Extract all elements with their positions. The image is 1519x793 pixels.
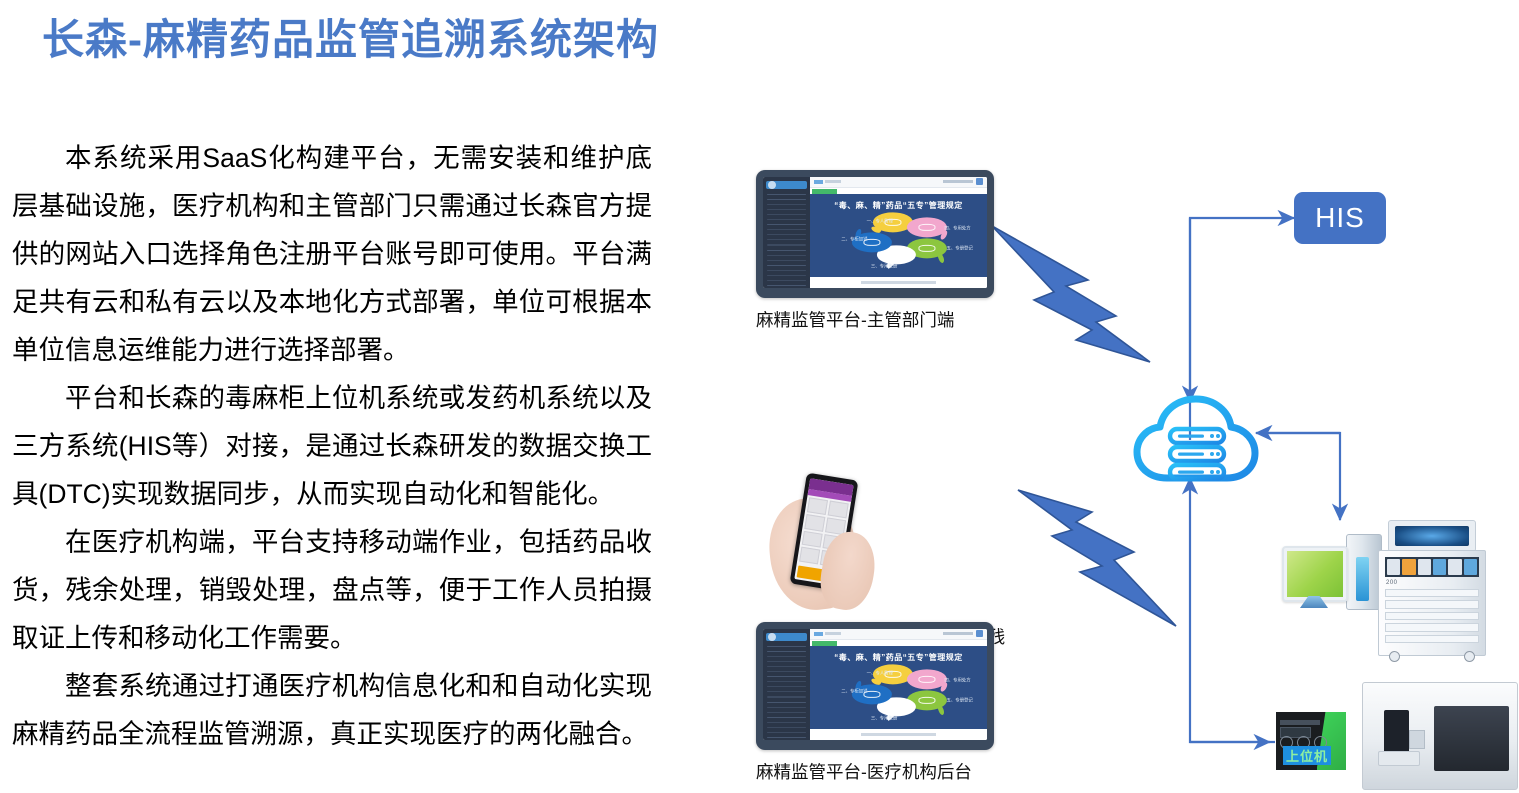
cloud-server-icon [1134, 396, 1259, 488]
description-paragraph-1: 本系统采用SaaS化构建平台，无需安装和维护底层基础设施，医疗机构和主管部门只需… [12, 134, 652, 374]
machine-window [1434, 706, 1509, 771]
dashboard-sidebar[interactable] [763, 177, 810, 288]
description-block: 本系统采用SaaS化构建平台，无需安装和维护底层基础设施，医疗机构和主管部门只需… [12, 134, 652, 758]
dashboard-main: “毒、麻、精”药品“五专”管理规定 一、专人管理 二、专柜加锁 三、专用账册 [810, 629, 987, 740]
sidebar-item[interactable] [767, 214, 806, 215]
dispensing-cabinet[interactable]: 200 [1378, 520, 1484, 660]
handheld-device[interactable] [762, 470, 892, 620]
sidebar-item[interactable] [767, 661, 806, 662]
sidebar-item[interactable] [767, 686, 806, 687]
sidebar-group[interactable] [767, 717, 806, 718]
sidebar-item[interactable] [767, 229, 806, 230]
description-paragraph-3: 在医疗机构端，平台支持移动端作业，包括药品收货，残余处理，销毁处理，盘点等，便于… [12, 518, 652, 662]
page-title: 长森-麻精药品监管追溯系统架构 [42, 6, 659, 67]
sidebar-item[interactable] [767, 681, 806, 682]
machine-panel [1384, 710, 1409, 755]
sidebar-item[interactable] [767, 219, 806, 220]
dashboard-logo [766, 633, 807, 641]
sidebar-item[interactable] [767, 671, 806, 672]
cabinet-display [1388, 520, 1476, 552]
pinwheel-label-2: 二、专柜加锁 [841, 237, 867, 243]
workstation-pc[interactable] [1282, 530, 1382, 610]
laptop-hospital-caption: 麻精监管平台-医疗机构后台 [756, 760, 1036, 784]
upper-machine-to-cloud-connector [1190, 478, 1275, 742]
sidebar-group[interactable] [767, 676, 806, 677]
sidebar-item[interactable] [767, 204, 806, 205]
upper-machine-label: 上位机 [1283, 746, 1331, 765]
screen-titlebar [1280, 720, 1321, 725]
pinwheel-label-3: 三、专用账册 [871, 715, 897, 721]
cabinet-wheel [1389, 651, 1400, 662]
sidebar-group[interactable] [767, 265, 806, 266]
sidebar-group[interactable] [767, 199, 806, 200]
pc-tower [1346, 534, 1382, 610]
laptop-bezel: “毒、麻、精”药品“五专”管理规定 一、专人管理 二、专柜加锁 三、专用账册 [756, 622, 994, 750]
sidebar-item[interactable] [767, 722, 806, 723]
description-paragraph-4: 整套系统通过打通医疗机构信息化和和自动化实现麻精药品全流程监管溯源，真正实现医疗… [12, 662, 652, 758]
admin-lightning-bolt [988, 218, 1158, 368]
dashboard-main: “毒、麻、精”药品“五专”管理规定 一、专人管理 二、专柜加锁 三、专用账册 [810, 177, 987, 288]
sidebar-group[interactable] [767, 285, 806, 286]
pinwheel-segment-4 [907, 669, 947, 689]
machine-mini-display [1409, 730, 1425, 749]
dashboard-footer [810, 277, 987, 288]
cloud-to-dispenser-connector [1260, 433, 1340, 520]
sidebar-item[interactable] [767, 244, 806, 245]
architecture-diagram: HIS [690, 120, 1519, 793]
laptop-admin-caption: 麻精监管平台-主管部门端 [756, 308, 1016, 332]
sidebar-group[interactable] [767, 194, 806, 195]
pinwheel-label-4: 四、专用处方 [944, 677, 970, 683]
dashboard-sidebar[interactable] [763, 629, 810, 740]
sidebar-group[interactable] [767, 250, 806, 251]
sidebar-item[interactable] [767, 255, 806, 256]
cabinet-body: 200 [1378, 550, 1486, 656]
cabinet-model-label: 200 [1386, 580, 1398, 586]
pinwheel-segment-4 [907, 217, 947, 237]
pinwheel-label-2: 二、专柜加锁 [841, 689, 867, 695]
pinwheel-label-5: 五、专册登记 [946, 698, 972, 704]
sidebar-group[interactable] [767, 737, 806, 738]
laptop-bezel: “毒、麻、精”药品“五专”管理规定 一、专人管理 二、专柜加锁 三、专用账册 [756, 170, 994, 298]
dashboard-footer [810, 729, 987, 740]
dashboard-topbar [810, 629, 987, 640]
sidebar-item[interactable] [767, 712, 806, 713]
sidebar-item[interactable] [767, 234, 806, 235]
sidebar-item[interactable] [767, 691, 806, 692]
sidebar-item[interactable] [767, 280, 806, 281]
sidebar-item[interactable] [767, 270, 806, 271]
description-paragraph-2: 平台和长森的毒麻柜上位机系统或发药机系统以及三方系统(HIS等）对接，是通过长森… [12, 374, 652, 518]
machine-keyboard-tray [1378, 751, 1421, 766]
slide-root: 长森-麻精药品监管追溯系统架构 本系统采用SaaS化构建平台，无需安装和维护底层… [0, 0, 1519, 793]
cabinet-wheel [1464, 651, 1475, 662]
his-node[interactable]: HIS [1294, 192, 1386, 244]
sidebar-item[interactable] [767, 209, 806, 210]
pinwheel-label-1: 一、专人管理 [867, 671, 893, 677]
laptop-screen: “毒、麻、精”药品“五专”管理规定 一、专人管理 二、专柜加锁 三、专用账册 [763, 629, 987, 740]
sidebar-item[interactable] [767, 707, 806, 708]
sidebar-item[interactable] [767, 666, 806, 667]
sidebar-item[interactable] [767, 260, 806, 261]
upper-machine-screen[interactable]: 上位机 [1276, 712, 1346, 770]
sidebar-item[interactable] [767, 239, 806, 240]
laptop-screen: “毒、麻、精”药品“五专”管理规定 一、专人管理 二、专柜加锁 三、专用账册 [763, 177, 987, 288]
five-special-pinwheel: 一、专人管理 二、专柜加锁 三、专用账册 四、专用处方 五、专册登记 [845, 209, 951, 270]
pinwheel-label-3: 三、专用账册 [871, 263, 897, 269]
laptop-admin[interactable]: “毒、麻、精”药品“五专”管理规定 一、专人管理 二、专柜加锁 三、专用账册 [756, 170, 994, 298]
user-avatar[interactable] [976, 178, 983, 185]
pc-monitor [1282, 546, 1348, 602]
dashboard-content: “毒、麻、精”药品“五专”管理规定 一、专人管理 二、专柜加锁 三、专用账册 [810, 646, 987, 729]
sidebar-item[interactable] [767, 696, 806, 697]
sidebar-item[interactable] [767, 732, 806, 733]
user-avatar[interactable] [976, 630, 983, 637]
dashboard-content: “毒、麻、精”药品“五专”管理规定 一、专人管理 二、专柜加锁 三、专用账册 [810, 194, 987, 277]
sidebar-group[interactable] [767, 702, 806, 703]
sidebar-item[interactable] [767, 727, 806, 728]
laptop-hospital[interactable]: “毒、麻、精”药品“五专”管理规定 一、专人管理 二、专柜加锁 三、专用账册 [756, 622, 994, 750]
sidebar-group[interactable] [767, 646, 806, 647]
hospital-lightning-bolt [1010, 482, 1180, 632]
his-label: HIS [1315, 202, 1365, 234]
sidebar-group[interactable] [767, 651, 806, 652]
dashboard-logo [766, 181, 807, 189]
sidebar-item[interactable] [767, 656, 806, 657]
pinwheel-label-4: 四、专用处方 [944, 225, 970, 231]
cabinet-slot-row [1385, 557, 1479, 577]
cabinet-drawers [1385, 589, 1479, 643]
sidebar-group[interactable] [767, 224, 806, 225]
five-special-pinwheel: 一、专人管理 二、专柜加锁 三、专用账册 四、专用处方 五、专册登记 [845, 661, 951, 722]
sidebar-item[interactable] [767, 275, 806, 276]
dashboard-topbar [810, 177, 987, 188]
automation-machine[interactable] [1362, 682, 1518, 790]
pinwheel-label-1: 一、专人管理 [867, 219, 893, 225]
pinwheel-label-5: 五、专册登记 [946, 246, 972, 252]
